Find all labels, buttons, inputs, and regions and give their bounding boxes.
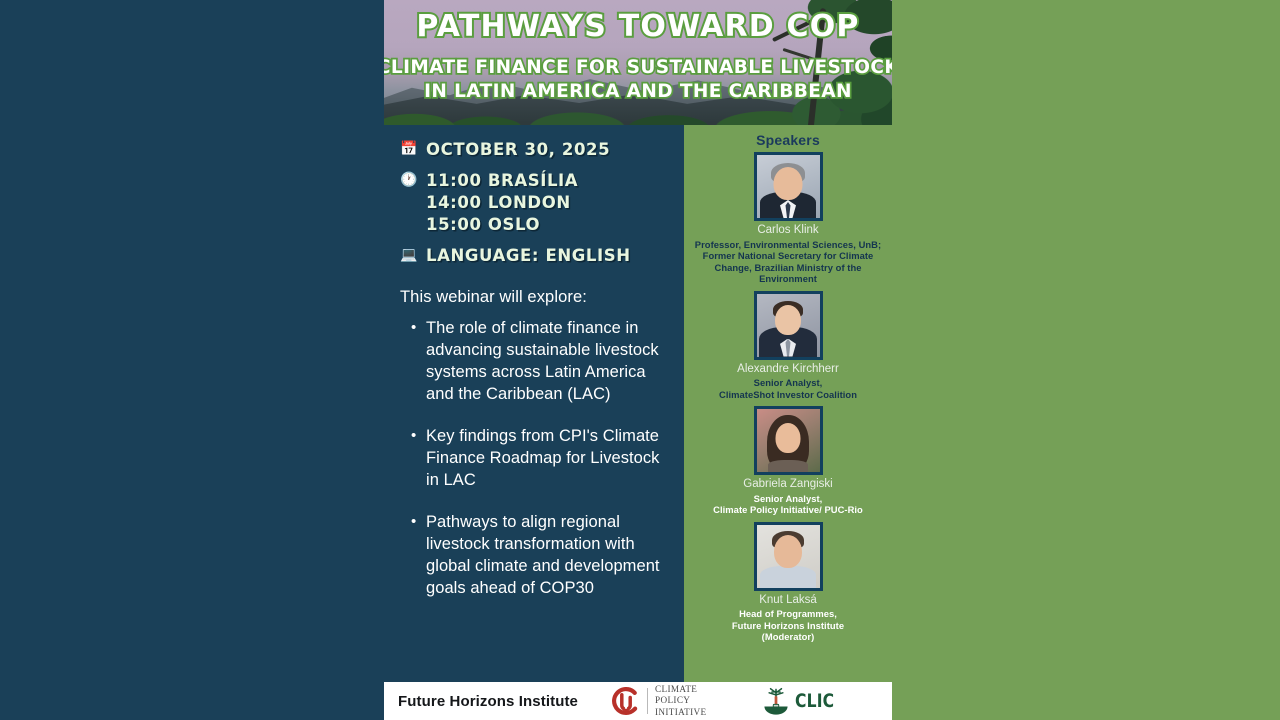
bullet-item: Pathways to align regional livestock tra…: [426, 512, 672, 600]
cpi-divider: [647, 688, 648, 714]
avatar: [754, 291, 823, 360]
poster-stage: PATHWAYS TOWARD COP CLIMATE FINANCE FOR …: [0, 0, 1280, 720]
detail-date-text: OCTOBER 30, 2025: [426, 139, 610, 161]
bullet-item: The role of climate finance in advancing…: [426, 318, 672, 406]
speaker-name: Gabriela Zangiski: [690, 478, 886, 491]
clock-icon: 🕐: [400, 170, 417, 188]
detail-time-brasilia: 11:00 BRASÍLIA: [426, 170, 578, 192]
detail-date-line: OCTOBER 30, 2025: [426, 139, 610, 161]
climate-policy-initiative-logo: CLIMATE POLICY INITIATIVE: [612, 684, 706, 718]
detail-time-london: 14:00 LONDON: [426, 192, 578, 214]
laptop-icon: 💻: [400, 245, 417, 263]
calendar-icon: 📅: [400, 139, 417, 157]
cpi-word-policy: POLICY: [655, 695, 706, 706]
body-bullet-list: The role of climate finance in advancing…: [400, 318, 672, 599]
detail-language-text: LANGUAGE: ENGLISH: [426, 245, 631, 267]
details-column: 📅 OCTOBER 30, 2025 🕐 11:00 BRASÍLIA 14:0…: [384, 125, 684, 682]
cpi-word-climate: CLIMATE: [655, 684, 706, 695]
clic-logo: CLIC: [762, 686, 843, 716]
future-horizons-logo: Future Horizons Institute: [398, 693, 578, 710]
cpi-wordmark: CLIMATE POLICY INITIATIVE: [655, 684, 706, 718]
left-background-slab: [0, 0, 384, 720]
speaker-name: Alexandre Kirchherr: [690, 363, 886, 376]
hero-banner: PATHWAYS TOWARD COP CLIMATE FINANCE FOR …: [384, 0, 892, 125]
speaker-role: Senior Analyst,ClimateShot Investor Coal…: [690, 377, 886, 400]
bullet-item: Key findings from CPI's Climate Finance …: [426, 426, 672, 492]
speaker-name: Knut Laksá: [690, 594, 886, 607]
speaker-role: Senior Analyst,Climate Policy Initiative…: [690, 493, 886, 516]
speaker-role: Professor, Environmental Sciences, UnB;F…: [690, 239, 886, 285]
speaker-name: Carlos Klink: [690, 224, 886, 237]
avatar: [754, 152, 823, 221]
hero-text-block: PATHWAYS TOWARD COP CLIMATE FINANCE FOR …: [384, 0, 892, 125]
avatar: [754, 522, 823, 591]
speaker-card: Alexandre Kirchherr Senior Analyst,Clima…: [690, 291, 886, 401]
hero-title: PATHWAYS TOWARD COP: [416, 12, 859, 42]
avatar: [754, 406, 823, 475]
flyer-body: 📅 OCTOBER 30, 2025 🕐 11:00 BRASÍLIA 14:0…: [384, 125, 892, 682]
cpi-word-initiative: INITIATIVE: [655, 707, 706, 718]
webinar-flyer: PATHWAYS TOWARD COP CLIMATE FINANCE FOR …: [384, 0, 892, 720]
speaker-card: Carlos Klink Professor, Environmental Sc…: [690, 152, 886, 285]
body-lede: This webinar will explore:: [400, 287, 672, 308]
hero-subtitle-line-1: CLIMATE FINANCE FOR SUSTAINABLE LIVESTOC…: [384, 56, 892, 80]
clic-wordmark: CLIC: [795, 690, 834, 712]
detail-time-oslo: 15:00 OSLO: [426, 214, 578, 236]
detail-language-line: LANGUAGE: ENGLISH: [426, 245, 631, 267]
speakers-column: Speakers Carlos Klink Professor, Environ…: [684, 125, 892, 682]
speaker-card: Knut Laksá Head of Programmes,Future Hor…: [690, 522, 886, 643]
clic-sprout-icon: [762, 686, 790, 716]
footer-logo-bar: Future Horizons Institute CLIMATE POLICY…: [384, 682, 892, 720]
hero-subtitle-line-2: IN LATIN AMERICA AND THE CARIBBEAN: [424, 80, 852, 104]
speaker-role: Head of Programmes,Future Horizons Insti…: [690, 608, 886, 642]
speaker-card: Gabriela Zangiski Senior Analyst,Climate…: [690, 406, 886, 516]
detail-row-language: 💻 LANGUAGE: ENGLISH: [400, 245, 672, 267]
detail-time-text: 11:00 BRASÍLIA 14:00 LONDON 15:00 OSLO: [426, 170, 578, 236]
detail-row-date: 📅 OCTOBER 30, 2025: [400, 139, 672, 161]
detail-row-time: 🕐 11:00 BRASÍLIA 14:00 LONDON 15:00 OSLO: [400, 170, 672, 236]
cpi-mark-icon: [612, 687, 640, 715]
speakers-heading: Speakers: [690, 132, 886, 148]
